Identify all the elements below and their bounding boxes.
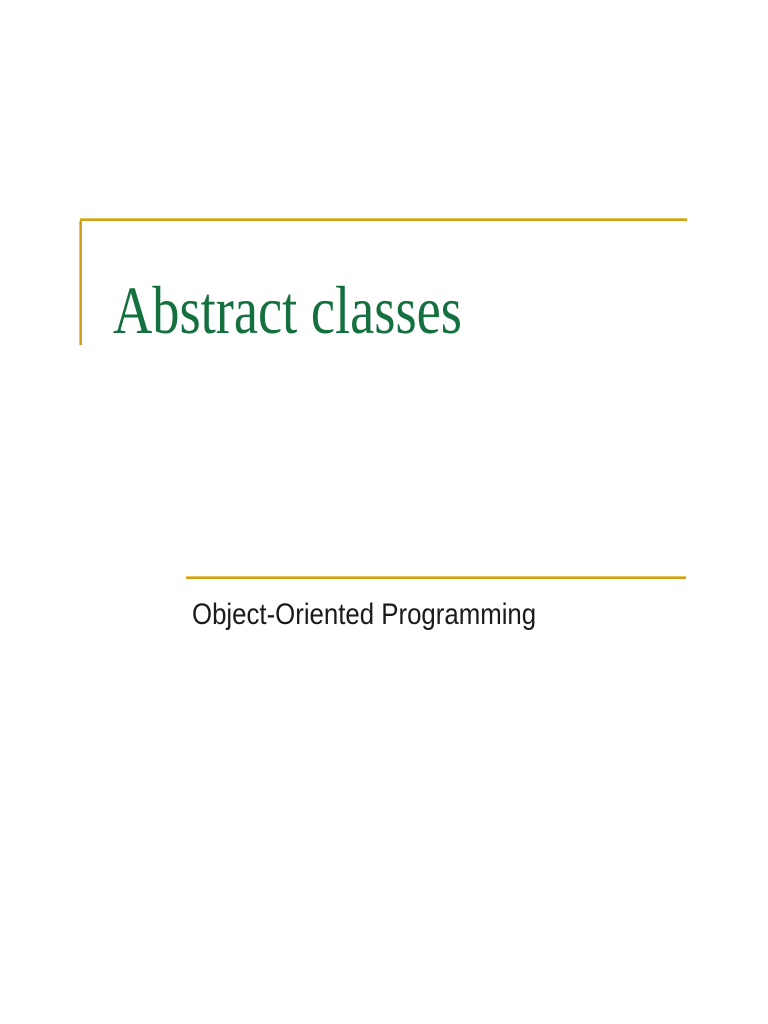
slide-subtitle: Object-Oriented Programming <box>192 596 536 634</box>
title-top-rule-decoration <box>80 218 687 221</box>
title-left-rule-decoration <box>79 221 82 345</box>
presentation-slide: Abstract classes Object-Oriented Program… <box>0 0 768 1024</box>
slide-title: Abstract classes <box>113 272 462 348</box>
subtitle-top-rule-decoration <box>186 576 686 579</box>
